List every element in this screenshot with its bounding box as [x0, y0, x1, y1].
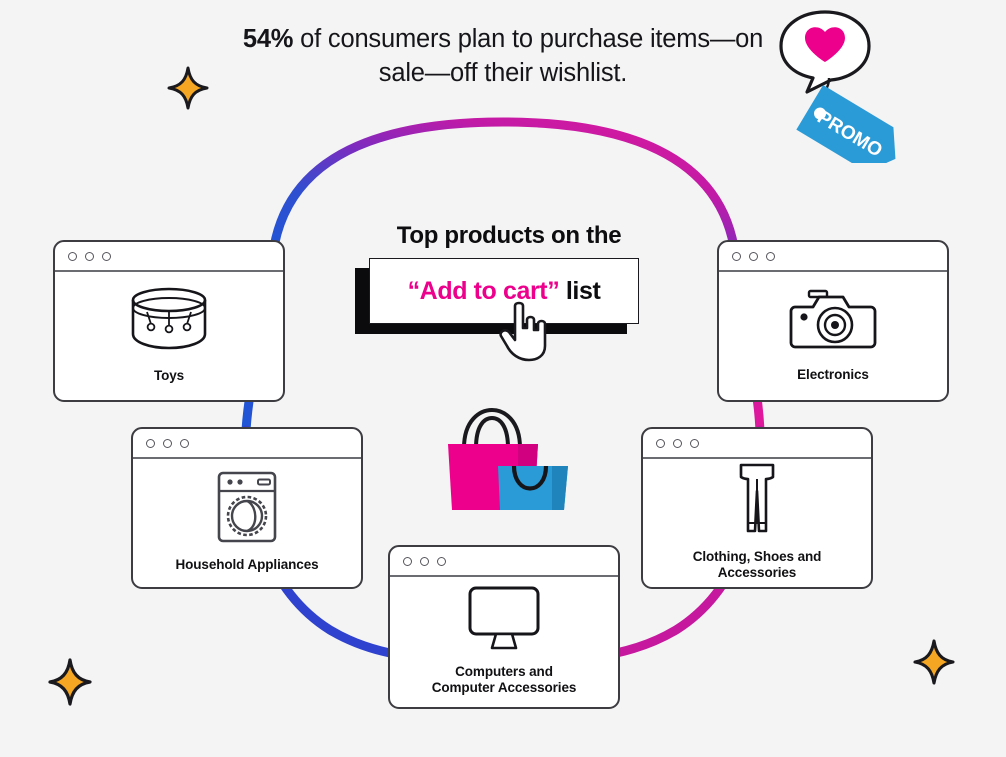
pants-icon — [732, 461, 782, 537]
card-body: Electronics — [719, 272, 947, 400]
window-dot-icon — [102, 252, 111, 261]
pointing-hand-cursor-icon — [497, 300, 553, 362]
shopping-bags-icon — [440, 402, 575, 517]
infographic-canvas: 54% of consumers plan to purchase items—… — [0, 0, 1006, 757]
card-body: Clothing, Shoes and Accessories — [643, 459, 871, 587]
window-dot-icon — [437, 557, 446, 566]
card-household-appliances[interactable]: Household Appliances — [131, 427, 363, 589]
sparkle-star-bottom-right — [913, 639, 955, 685]
card-toys[interactable]: Toys — [53, 240, 285, 402]
window-dot-icon — [180, 439, 189, 448]
card-body: Computers and Computer Accessories — [390, 577, 618, 707]
card-body: Household Appliances — [133, 459, 361, 587]
callout: Top products on the “Add to cart” list — [355, 222, 655, 334]
card-body: Toys — [55, 272, 283, 400]
window-dot-icon — [146, 439, 155, 448]
window-dot-icon — [656, 439, 665, 448]
card-label: Toys — [154, 368, 184, 384]
camera-icon — [787, 285, 879, 355]
window-dot-icon — [732, 252, 741, 261]
card-electronics[interactable]: Electronics — [717, 240, 949, 402]
headline: 54% of consumers plan to purchase items—… — [238, 22, 768, 90]
window-dot-icon — [673, 439, 682, 448]
card-label: Household Appliances — [175, 557, 318, 573]
promo-tag-icon: PROMO — [796, 85, 908, 163]
speech-bubble-icon — [781, 12, 869, 92]
window-dot-icon — [163, 439, 172, 448]
window-dot-icon — [420, 557, 429, 566]
window-dot-icon — [68, 252, 77, 261]
sparkle-star-top-left — [167, 66, 209, 110]
callout-suffix-text: list — [559, 277, 600, 305]
window-titlebar — [643, 429, 871, 459]
card-label: Electronics — [797, 367, 869, 383]
card-label: Clothing, Shoes and Accessories — [693, 549, 822, 581]
card-label: Computers and Computer Accessories — [432, 664, 577, 696]
callout-heading: Top products on the — [363, 222, 655, 250]
promo-tag-group: PROMO — [763, 8, 913, 163]
headline-percent: 54% — [243, 25, 293, 53]
window-titlebar — [55, 242, 283, 272]
drum-icon — [121, 284, 217, 356]
washing-machine-icon — [214, 469, 280, 545]
card-clothing-shoes-accessories[interactable]: Clothing, Shoes and Accessories — [641, 427, 873, 589]
window-dot-icon — [403, 557, 412, 566]
window-dot-icon — [85, 252, 94, 261]
window-dot-icon — [766, 252, 775, 261]
headline-rest: of consumers plan to purchase items—on s… — [293, 25, 763, 87]
window-dot-icon — [749, 252, 758, 261]
card-computers-accessories[interactable]: Computers and Computer Accessories — [388, 545, 620, 709]
window-titlebar — [390, 547, 618, 577]
window-titlebar — [719, 242, 947, 272]
monitor-icon — [462, 584, 546, 652]
window-dot-icon — [690, 439, 699, 448]
sparkle-star-bottom-left — [48, 658, 92, 706]
window-titlebar — [133, 429, 361, 459]
